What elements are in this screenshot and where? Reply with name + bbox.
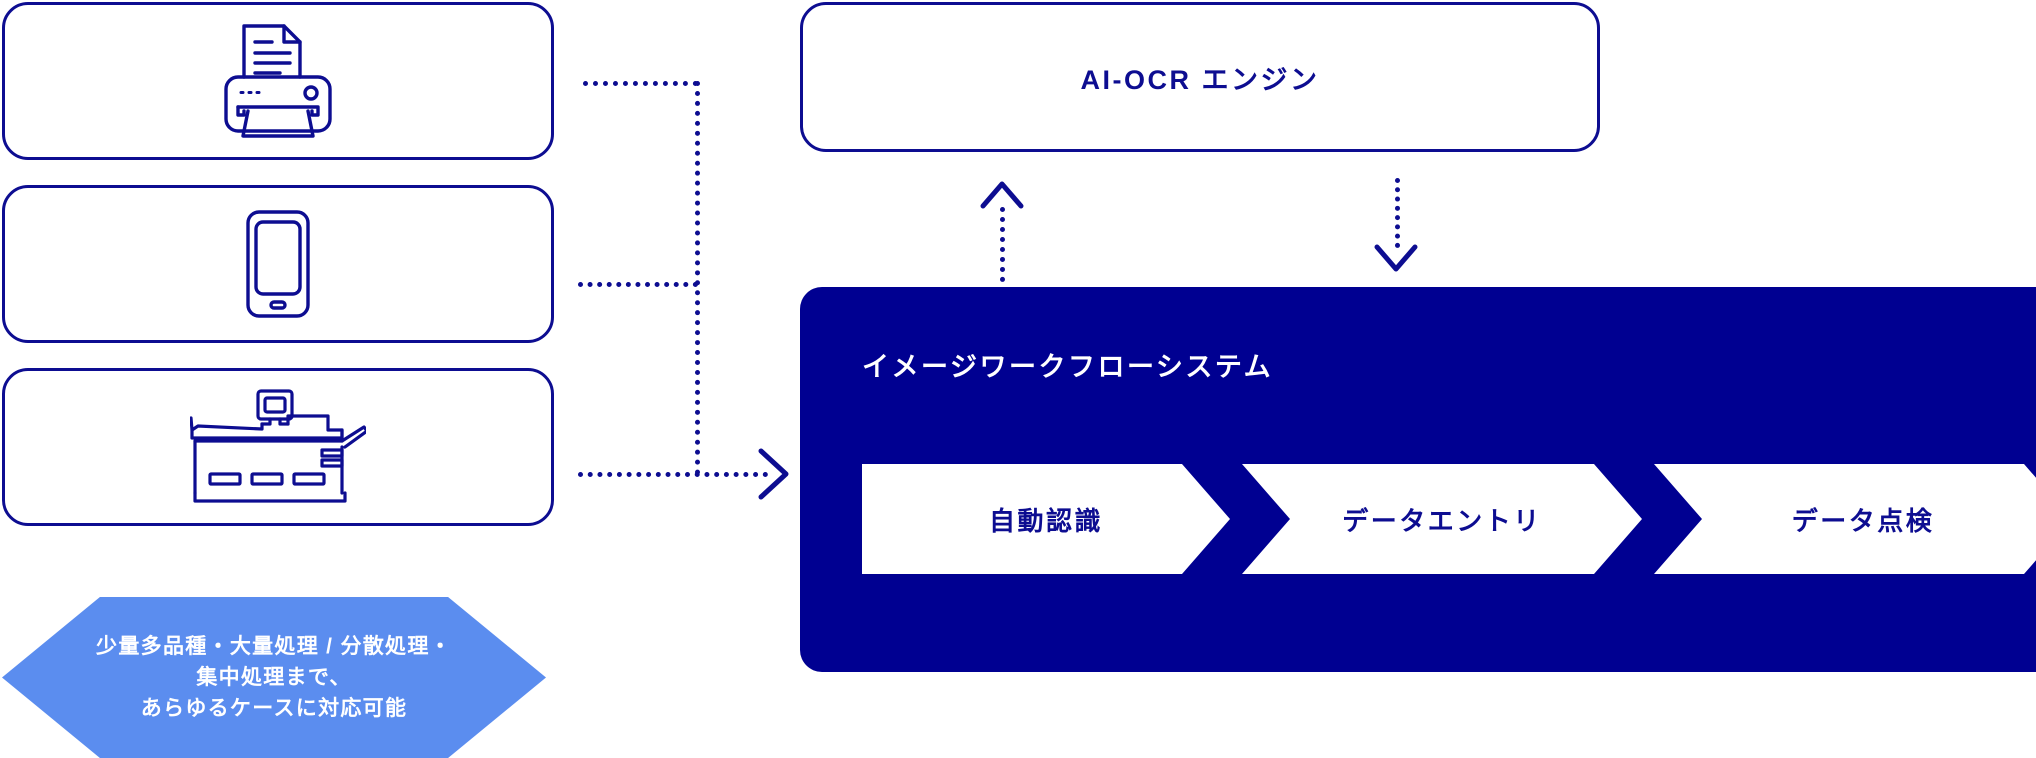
workflow-step-data-inspection[interactable]: データ点検 — [1654, 464, 2036, 574]
connector-down-dotted — [1395, 178, 1400, 248]
workflow-step-label: データエントリ — [1342, 501, 1542, 538]
connector-up-dotted — [1000, 207, 1005, 282]
arrow-down-icon — [1374, 243, 1418, 273]
capability-callout-hexagon: 少量多品種・大量処理 / 分散処理・ 集中処理まで、 あらゆるケースに対応可能 — [2, 597, 546, 758]
source-card-mobile — [2, 185, 554, 343]
arrow-to-workflow-icon — [756, 448, 796, 500]
workflow-step-data-entry[interactable]: データエントリ — [1242, 464, 1642, 574]
source-card-printer — [2, 2, 554, 160]
workflow-step-label: データ点検 — [1792, 501, 1935, 538]
image-workflow-system-panel: イメージワークフローシステム 自動認識 データエントリ データ点検 — [800, 287, 2036, 672]
callout-line-2: 集中処理まで、 — [196, 662, 351, 693]
diagram-canvas: AI-OCR エンジン イメージワークフローシステム 自動認識 データエントリ … — [0, 0, 2036, 758]
printer-icon — [222, 22, 334, 140]
connector-copier-horizontal — [578, 472, 768, 477]
ai-ocr-engine-box: AI-OCR エンジン — [800, 2, 1600, 152]
source-card-copier — [2, 368, 554, 526]
callout-line-3: あらゆるケースに対応可能 — [141, 693, 408, 724]
workflow-steps: 自動認識 データエントリ データ点検 — [862, 464, 2036, 574]
smartphone-icon — [245, 209, 311, 319]
workflow-step-auto-recognition[interactable]: 自動認識 — [862, 464, 1230, 574]
connector-mobile-horizontal — [578, 282, 698, 287]
arrow-up-icon — [980, 180, 1024, 210]
connector-vertical-trunk — [695, 81, 700, 475]
connector-printer-horizontal — [583, 81, 698, 86]
workflow-panel-title: イメージワークフローシステム — [862, 345, 1273, 384]
multifunction-copier-icon — [190, 388, 366, 506]
callout-line-1: 少量多品種・大量処理 / 分散処理・ — [96, 631, 452, 662]
ai-ocr-engine-label: AI-OCR エンジン — [1081, 58, 1320, 97]
workflow-step-label: 自動認識 — [989, 501, 1103, 538]
